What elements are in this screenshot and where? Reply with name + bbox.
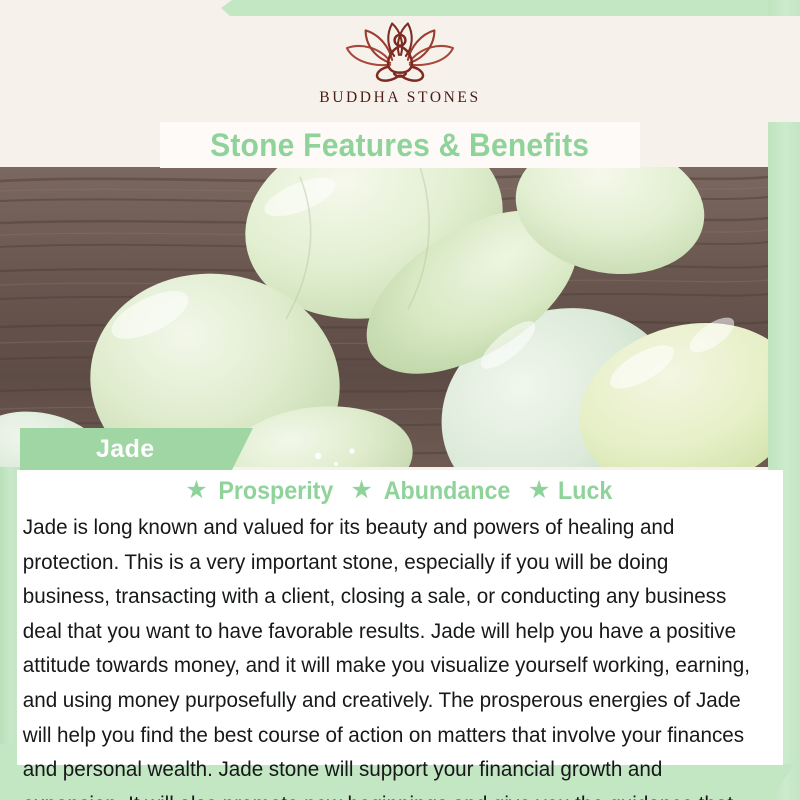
- benefit-item: ★ Abundance: [350, 477, 515, 506]
- benefit-item: ★ Luck: [528, 477, 615, 506]
- brand-header: BUDDHA STONES: [0, 0, 800, 122]
- logo: BUDDHA STONES: [319, 15, 480, 107]
- jade-stones-photo: [0, 167, 768, 467]
- stone-name: Jade: [20, 435, 155, 464]
- benefit-item: ★ Prosperity: [185, 477, 337, 506]
- brand-name: BUDDHA STONES: [319, 89, 480, 107]
- benefit-label: Luck: [558, 477, 612, 506]
- decor-top-bar: [210, 0, 800, 16]
- star-icon: ★: [528, 478, 550, 503]
- lotus-meditation-icon: [341, 19, 459, 85]
- infographic-page: BUDDHA STONES Stone Features & Benefits …: [0, 0, 800, 800]
- benefit-label: Abundance: [384, 477, 511, 506]
- page-title: Stone Features & Benefits: [210, 127, 589, 164]
- benefits-row: ★ Prosperity ★ Abundance ★ Luck: [17, 470, 783, 506]
- benefit-label: Prosperity: [218, 477, 333, 506]
- stone-name-banner: Jade: [20, 428, 253, 470]
- section-title-banner: Stone Features & Benefits: [160, 122, 640, 168]
- content-panel: ★ Prosperity ★ Abundance ★ Luck Jade is …: [17, 470, 783, 765]
- star-icon: ★: [185, 478, 207, 503]
- star-icon: ★: [350, 478, 372, 503]
- stone-description: Jade is long known and valued for its be…: [17, 506, 756, 800]
